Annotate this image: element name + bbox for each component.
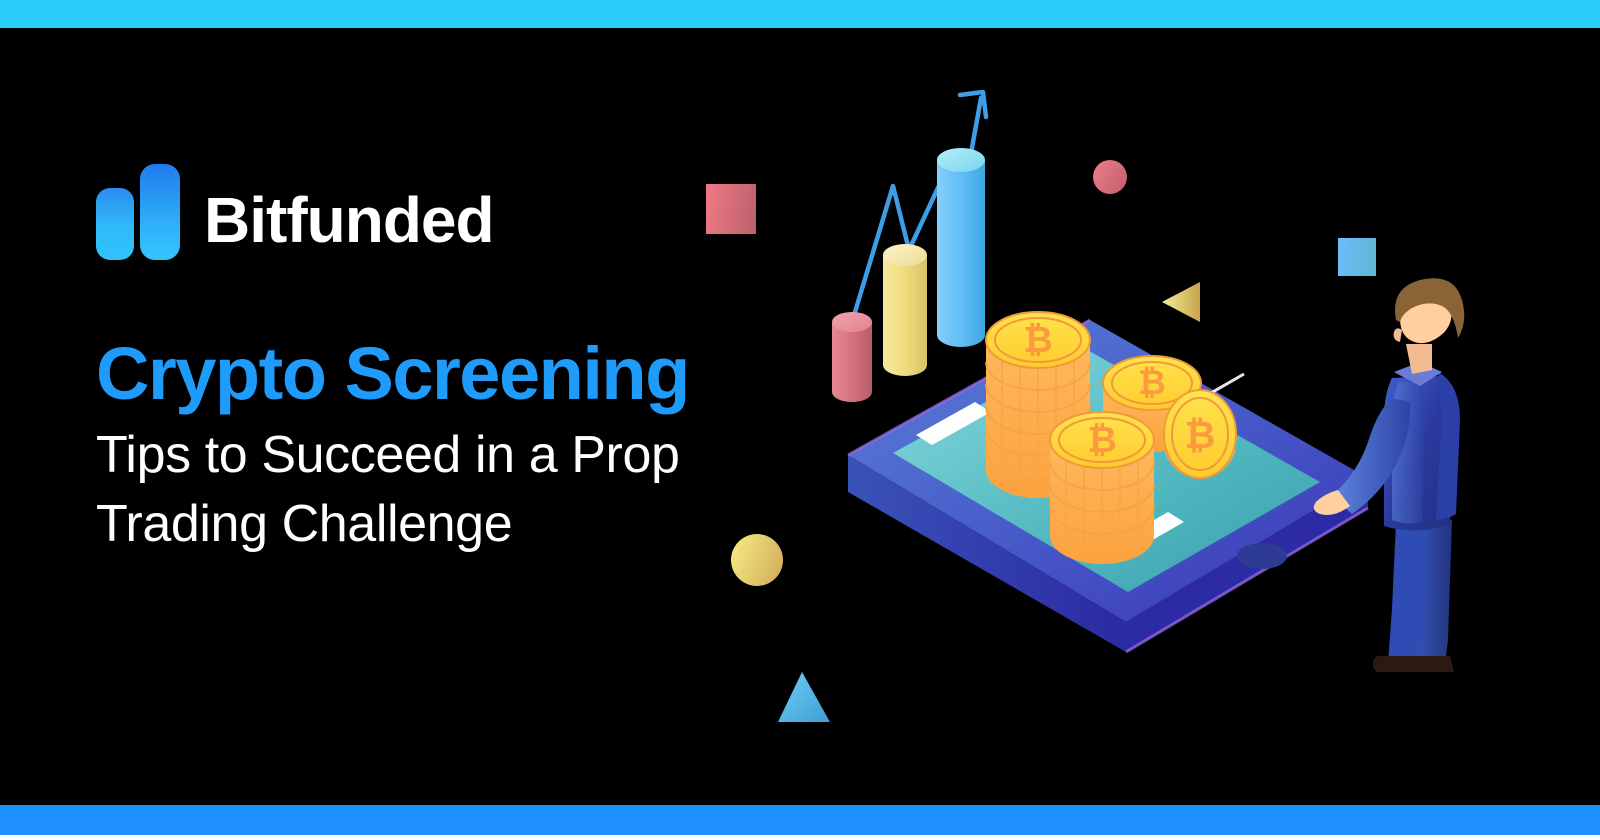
screen-bar-2 [1110, 512, 1184, 555]
headline-block: Crypto Screening Tips to Succeed in a Pr… [96, 336, 816, 559]
blue-square [1338, 238, 1376, 276]
bar-cylinder-red [832, 312, 872, 402]
subtitle-line-1: Tips to Succeed in a Prop [96, 426, 680, 484]
screen-bar-1 [916, 402, 991, 445]
bitfunded-promo-banner: ₿ ₿ [0, 0, 1600, 840]
svg-text:₿: ₿ [1087, 419, 1116, 460]
coin-single-right: ₿ [1164, 390, 1236, 479]
home-button [1237, 543, 1287, 569]
hair [1395, 278, 1464, 338]
logo-wordmark: Bitfunded [204, 188, 494, 260]
standing-businessman [1314, 278, 1465, 672]
svg-text:₿: ₿ [1185, 415, 1216, 457]
coin-stack-front: ₿ [1050, 412, 1154, 564]
trend-arrow-icon [852, 92, 986, 322]
bar-chart-cylinders [832, 148, 985, 402]
gold-triangle-left [1162, 282, 1200, 322]
svg-text:₿: ₿ [1023, 319, 1052, 360]
brand-logo[interactable]: Bitfunded [96, 160, 494, 260]
logo-bar-tall [140, 164, 180, 260]
collar [1394, 362, 1442, 386]
page-title: Crypto Screening [96, 336, 816, 411]
coin-stack-tall-left: ₿ [986, 312, 1090, 498]
top-accent-strip [0, 0, 1600, 28]
page-subtitle: Tips to Succeed in a Prop Trading Challe… [96, 421, 816, 558]
hand [1314, 490, 1350, 515]
bar-cylinder-blue [937, 148, 985, 347]
bottom-accent-strip [0, 805, 1600, 835]
bitcoin-coin-stacks: ₿ ₿ [986, 312, 1236, 564]
red-square [706, 184, 756, 234]
red-circle [1093, 160, 1127, 194]
shoe-back [1403, 656, 1454, 672]
shoe-front [1373, 656, 1424, 672]
smartphone-isometric [848, 320, 1368, 652]
screen-line [1030, 374, 1244, 497]
logo-bar-short [96, 188, 134, 260]
subtitle-line-2: Trading Challenge [96, 495, 512, 553]
bottom-edge-strip [0, 835, 1600, 840]
bitfunded-bars-logo-icon [96, 164, 182, 260]
svg-text:₿: ₿ [1138, 364, 1166, 402]
bar-cylinder-yellow [883, 244, 927, 376]
blue-triangle [778, 672, 830, 722]
coin-stack-back-right: ₿ [1103, 356, 1201, 452]
